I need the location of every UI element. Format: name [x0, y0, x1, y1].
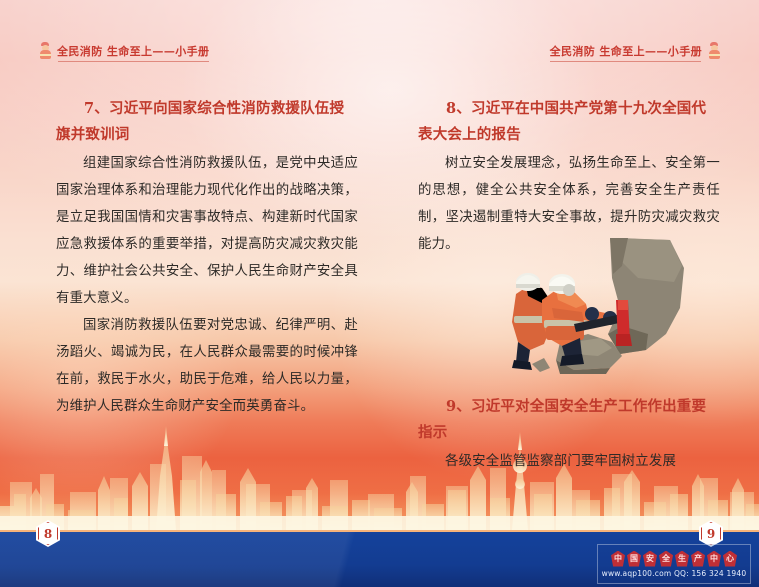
running-head-right: 全民消防 生命至上——小手册: [550, 42, 721, 60]
seal-logo-icon: 中: [707, 551, 721, 567]
seal-logo-icon: 全: [659, 551, 673, 567]
running-head-left-rule: [58, 61, 209, 62]
firefighter-mascot-icon: [707, 42, 721, 60]
running-head-right-text: 全民消防 生命至上——小手册: [550, 44, 702, 59]
seal-logo-icon: 心: [723, 551, 737, 567]
seal-logo-icon: 产: [691, 551, 705, 567]
watermark-url-text: www.aqp100.com QQ: 156 324 1940: [602, 569, 747, 578]
right-page-column: 8、习近平在中国共产党第十九次全国代表大会上的报告 树立安全发展理念，弘扬生命至…: [418, 96, 720, 475]
seal-logo-icon: 安: [643, 551, 657, 567]
running-head-right-rule: [550, 61, 701, 62]
seal-logo-icon: 中: [611, 551, 625, 567]
section-7-paragraph-2: 国家消防救援队伍要对党忠诚、纪律严明、赴汤蹈火、竭诚为民，在人民群众最需要的时候…: [56, 312, 358, 420]
section-9-paragraph: 各级安全监管监察部门要牢固树立发展: [418, 448, 720, 475]
page-number-right-text: 9: [707, 527, 715, 541]
section-7-paragraph-1: 组建国家综合性消防救援队伍，是党中央适应国家治理体系和治理能力现代化作出的战略决…: [56, 150, 358, 312]
firefighter-mascot-icon: [38, 42, 52, 60]
running-head-left-text: 全民消防 生命至上——小手册: [57, 44, 209, 59]
seal-logo-icon: 国: [627, 551, 641, 567]
left-page-column: 7、习近平向国家综合性消防救援队伍授旗并致训词 组建国家综合性消防救援队伍，是党…: [56, 96, 358, 420]
seal-logo-row: 中国安全生产中心: [611, 551, 737, 567]
seal-logo-icon: 生: [675, 551, 689, 567]
section-title-7: 7、习近平向国家综合性消防救援队伍授旗并致训词: [56, 96, 358, 148]
running-head-left: 全民消防 生命至上——小手册: [38, 42, 209, 60]
handbook-page-spread: 全民消防 生命至上——小手册 全民消防 生命至上——小手册 7、习近平向国家综合…: [0, 0, 759, 587]
page-number-left-text: 8: [44, 527, 52, 541]
section-8-paragraph: 树立安全发展理念，弘扬生命至上、安全第一的思想，健全公共安全体系，完善安全生产责…: [418, 150, 720, 258]
publisher-watermark: 中国安全生产中心 www.aqp100.com QQ: 156 324 1940: [597, 544, 751, 584]
section-title-9: 9、习近平对全国安全生产工作作出重要指示: [418, 394, 720, 446]
section-title-8: 8、习近平在中国共产党第十九次全国代表大会上的报告: [418, 96, 720, 148]
